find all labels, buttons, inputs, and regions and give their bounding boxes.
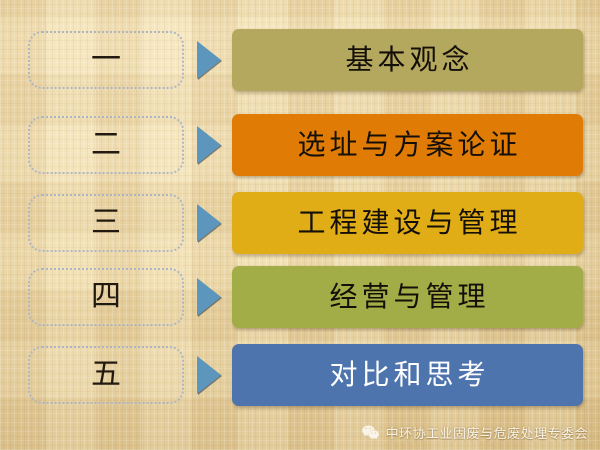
- agenda-bar[interactable]: 选址与方案论证: [232, 114, 583, 176]
- watermark: 中环协工业固废与危废处理专委会: [361, 423, 588, 442]
- agenda-bar-label: 选址与方案论证: [293, 131, 521, 159]
- agenda-numeral: 五: [28, 346, 184, 404]
- wechat-icon: [361, 423, 380, 442]
- agenda-numeral: 二: [28, 116, 184, 174]
- agenda-bar-label: 经营与管理: [325, 283, 489, 311]
- agenda-numeral: 一: [28, 31, 184, 89]
- agenda-row: 四经营与管理: [0, 266, 600, 330]
- agenda-numeral: 四: [28, 268, 184, 326]
- triangle-right-icon: [197, 126, 221, 164]
- triangle-right-icon: [197, 204, 221, 242]
- agenda-row: 三工程建设与管理: [0, 192, 600, 256]
- agenda-numeral: 三: [28, 194, 184, 252]
- agenda-bar-label: 工程建设与管理: [293, 209, 521, 237]
- agenda-row: 一基本观念: [0, 29, 600, 93]
- slide-canvas: 一基本观念二选址与方案论证三工程建设与管理四经营与管理五对比和思考 中环协工业固…: [0, 0, 600, 450]
- triangle-right-icon: [197, 278, 221, 316]
- agenda-bar[interactable]: 对比和思考: [232, 344, 583, 406]
- agenda-bar-label: 对比和思考: [325, 361, 489, 389]
- agenda-bar[interactable]: 基本观念: [232, 29, 583, 91]
- agenda-row: 五对比和思考: [0, 344, 600, 408]
- agenda-bar[interactable]: 经营与管理: [232, 266, 583, 328]
- triangle-right-icon: [197, 356, 221, 394]
- agenda-bar-label: 基本观念: [341, 46, 473, 74]
- watermark-text: 中环协工业固废与危废处理专委会: [385, 423, 588, 442]
- agenda-bar[interactable]: 工程建设与管理: [232, 192, 583, 254]
- agenda-row: 二选址与方案论证: [0, 114, 600, 178]
- triangle-right-icon: [197, 41, 221, 79]
